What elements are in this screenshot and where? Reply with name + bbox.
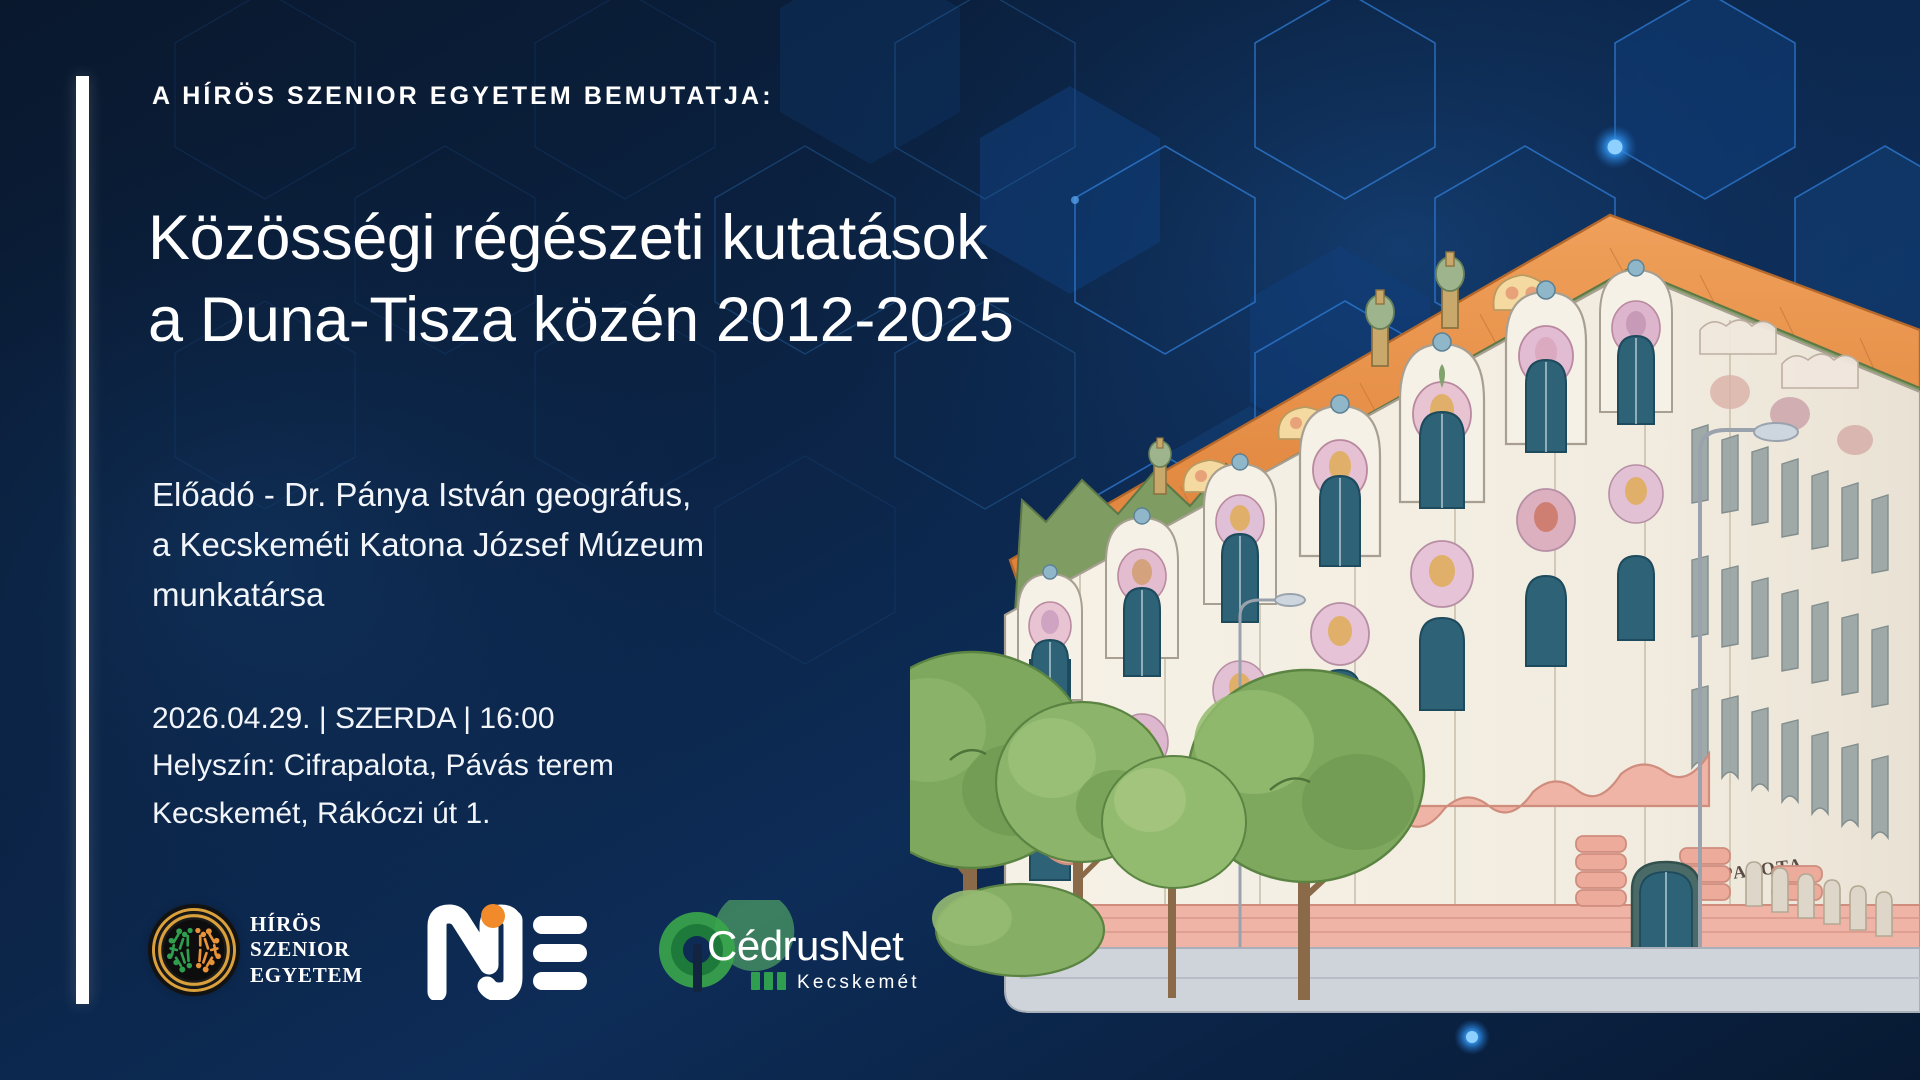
cifrapalota-sign-text: CIFRAPALOTA xyxy=(1656,854,1804,892)
hse-line-1: HÍRÖS xyxy=(250,912,363,938)
poster-kicker: A HÍRÖS SZENIOR EGYETEM BEMUTATJA: xyxy=(152,82,774,111)
hiros-szenior-egyetem-emblem-icon xyxy=(152,908,236,992)
speaker-block: Előadó - Dr. Pánya István geográfus, a K… xyxy=(152,470,1032,620)
left-accent-bar xyxy=(76,76,89,1004)
cedrusnet-bars-icon xyxy=(751,972,786,990)
speaker-line-1: Előadó - Dr. Pánya István geográfus, xyxy=(152,470,1032,520)
event-date-line: 2026.04.29. | SZERDA | 16:00 xyxy=(152,695,1032,742)
poster-content: A HÍRÖS SZENIOR EGYETEM BEMUTATJA: Közös… xyxy=(152,0,1152,1080)
nje-logo xyxy=(425,900,595,1000)
poster-title: Közösségi régészeti kutatások a Duna-Tis… xyxy=(148,198,1188,362)
cedrusnet-wordmark: CédrusNet xyxy=(707,922,904,969)
event-address-line: Kecskemét, Rákóczi út 1. xyxy=(152,790,1032,837)
event-venue-line: Helyszín: Cifrapalota, Pávás terem xyxy=(152,742,1032,789)
cedrusnet-subtitle: Kecskemét xyxy=(797,972,920,993)
poster-title-line-2: a Duna-Tisza közén 2012-2025 xyxy=(148,280,1188,362)
cedrusnet-logo: CédrusNet Kecskemét xyxy=(655,900,923,1000)
hse-line-3: EGYETEM xyxy=(250,963,363,989)
hse-line-2: SZENIOR xyxy=(250,937,363,963)
logo-row: HÍRÖS SZENIOR EGYETEM xyxy=(152,890,923,1010)
poster-title-line-1: Közösségi régészeti kutatások xyxy=(148,198,1188,280)
event-poster: CIFRAPALOTA xyxy=(0,0,1920,1080)
event-details-block: 2026.04.29. | SZERDA | 16:00 Helyszín: C… xyxy=(152,695,1032,837)
hiros-szenior-egyetem-logo: HÍRÖS SZENIOR EGYETEM xyxy=(152,908,363,992)
hiros-szenior-egyetem-wordmark: HÍRÖS SZENIOR EGYETEM xyxy=(250,912,363,989)
nje-dot-icon xyxy=(481,904,505,928)
speaker-line-2: a Kecskeméti Katona József Múzeum xyxy=(152,520,1032,570)
speaker-line-3: munkatársa xyxy=(152,570,1032,620)
